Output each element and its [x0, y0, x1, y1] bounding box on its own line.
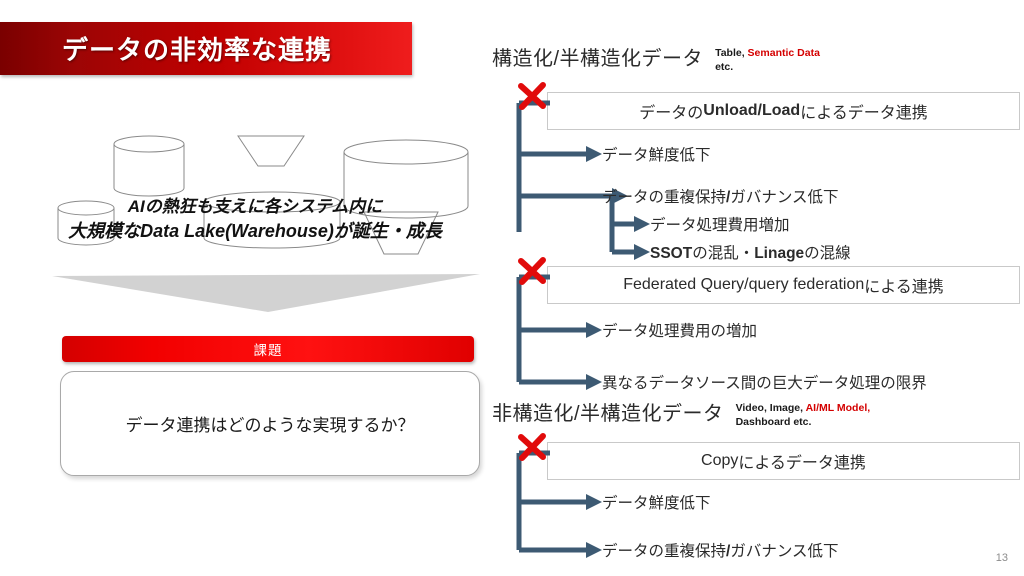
slide-title-banner: データの非効率な連携 [0, 22, 412, 75]
leaf-structured-3: データ処理費用増加 [650, 213, 790, 235]
note-pre-unstructured: Video, Image, [736, 402, 806, 414]
page-number: 13 [996, 552, 1008, 564]
section-note-unstructured: Video, Image, AI/ML Model,Dashboard etc. [736, 401, 871, 429]
page-title: データの非効率な連携 [62, 30, 332, 67]
flow-box-copy-pre: Copy [701, 452, 738, 470]
section-title-structured: 構造化/半構造化データ [492, 42, 703, 71]
note-pre-structured: Table, [715, 47, 747, 59]
leaf-federated-2: 異なるデータソース間の巨大データ処理の限界 [602, 371, 927, 393]
leaf-structured-1: データ鮮度低下 [602, 143, 711, 165]
flow-box-copy-post: によるデータ連携 [738, 449, 866, 473]
note-post-unstructured: Dashboard etc. [736, 416, 812, 428]
flow-box-federated-post: による連携 [864, 273, 944, 297]
leaf-federated-1: データ処理費用の増加 [602, 319, 757, 341]
section-title-unstructured: 非構造化/半構造化データ [492, 397, 724, 426]
note-post-structured: etc. [715, 61, 733, 73]
leaf-unstructured-1: データ鮮度低下 [602, 491, 711, 513]
note-highlight-structured: Semantic Data [748, 47, 820, 59]
leaf-structured-2: データの重複保持/ガバナンス低下 [602, 185, 839, 207]
kadai-label: 課題 [254, 339, 283, 359]
kadai-banner: 課題 [62, 336, 474, 362]
flow-box-unload-load-post: によるデータ連携 [800, 99, 928, 123]
issues-panel: 構造化/半構造化データ Table, Semantic Dataetc. データ… [492, 42, 1018, 566]
flow-box-unload-load-bold: Unload/Load [703, 102, 800, 120]
section-note-structured: Table, Semantic Dataetc. [715, 46, 820, 74]
connector-structured [516, 90, 686, 262]
down-chevron-svg [52, 272, 480, 312]
section-header-unstructured: 非構造化/半構造化データ Video, Image, AI/ML Model,D… [492, 397, 870, 429]
cylinders-svg [46, 130, 496, 270]
slide-canvas: データの非効率な連携 [0, 0, 1024, 576]
leaf-unstructured-2: データの重複保持/ガバナンス低下 [602, 539, 839, 561]
note-highlight-unstructured: AI/ML Model, [806, 402, 871, 414]
question-box: データ連携はどのような実現するか？ [60, 371, 480, 476]
data-lake-illustration [46, 130, 496, 270]
section-header-structured: 構造化/半構造化データ Table, Semantic Dataetc. [492, 42, 820, 74]
leaf-structured-4: SSOTの混乱・Linageの混線 [650, 241, 851, 263]
downward-arrow-icon [52, 272, 480, 317]
question-text: データ連携はどのような実現するか？ [126, 411, 415, 436]
